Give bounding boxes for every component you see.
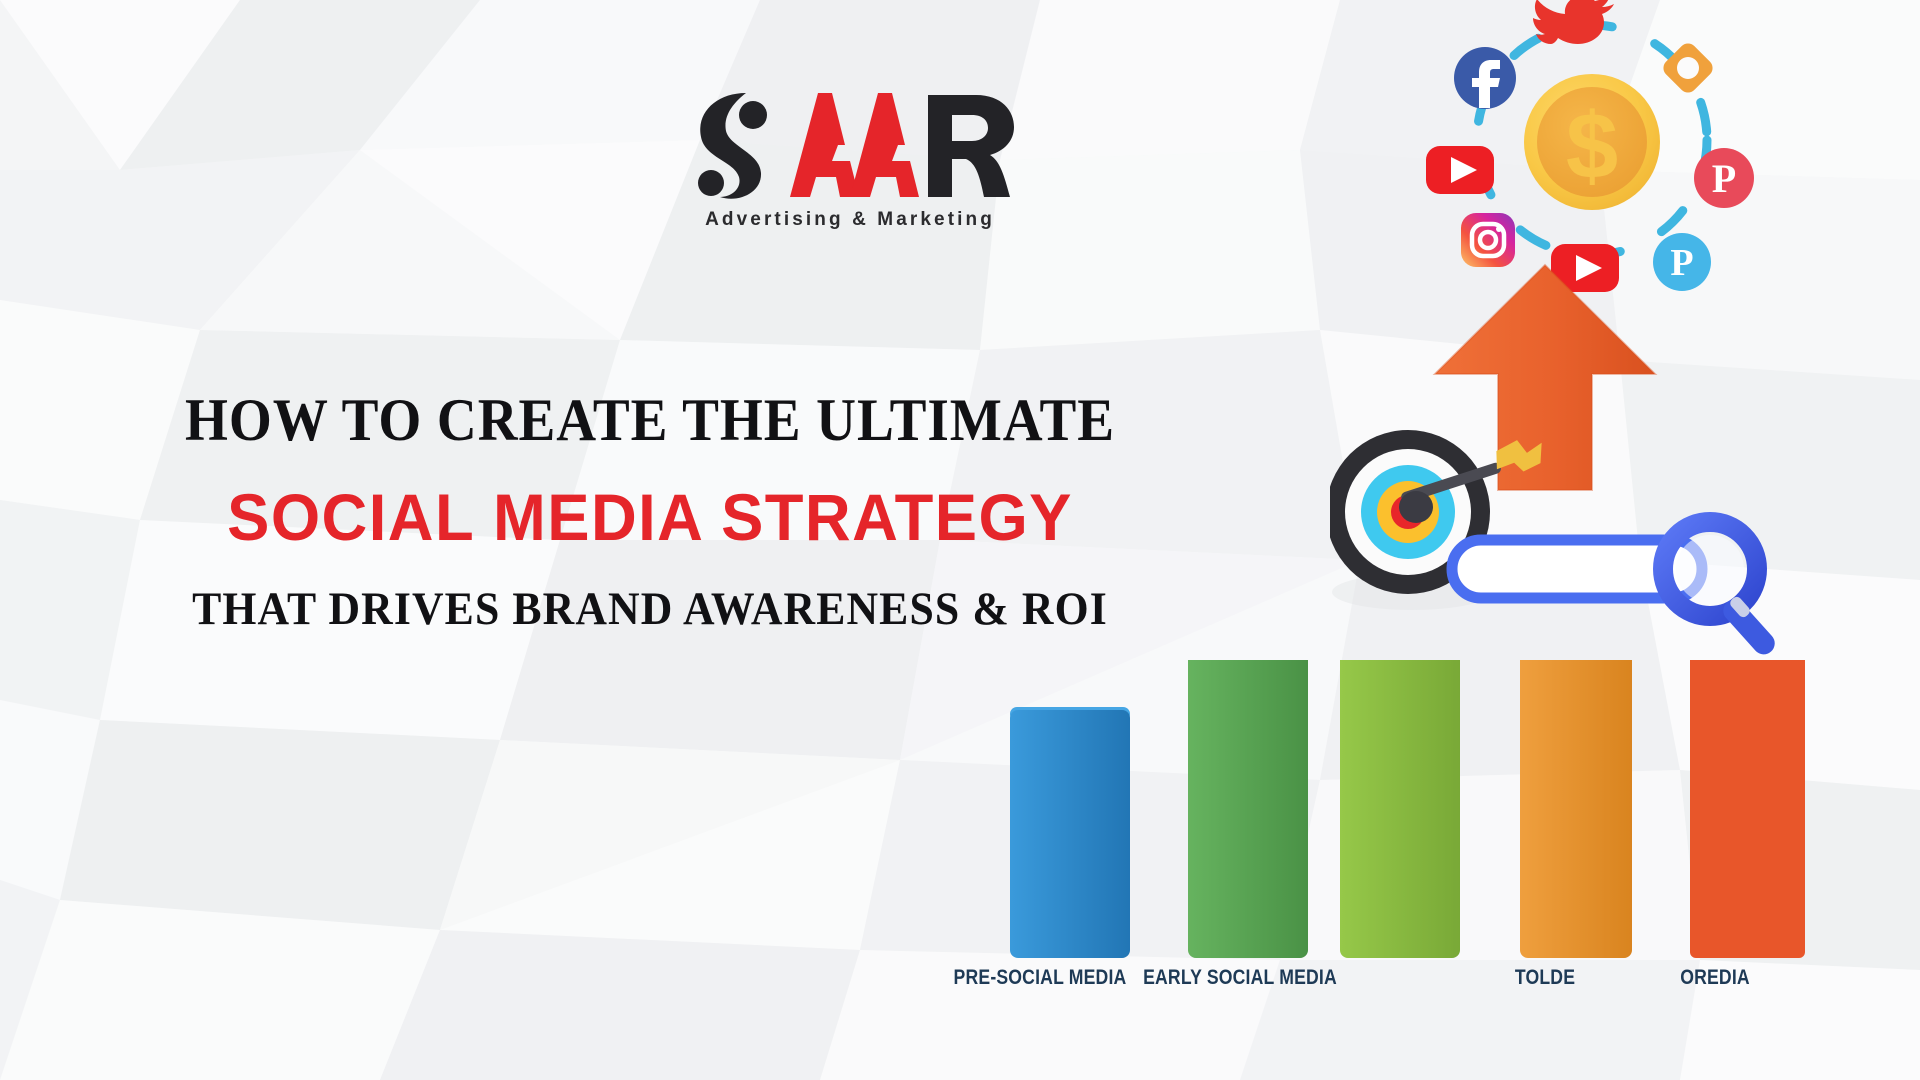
bar-oredia <box>1690 660 1805 958</box>
svg-text:$: $ <box>1566 93 1618 198</box>
twitter-icon <box>1533 0 1614 44</box>
bar-label-tolde: TOLDE <box>1453 966 1638 990</box>
facebook-icon <box>1454 47 1516 109</box>
headline-line-1: HOW TO CREATE THE ULTIMATE <box>52 390 1248 450</box>
svg-text:P: P <box>1670 242 1693 284</box>
bar-label-early-social-media: EARLY SOCIAL MEDIA <box>1080 966 1399 990</box>
svg-text:P: P <box>1712 156 1736 201</box>
bar-early-social-media <box>1188 660 1308 958</box>
bar-tolde-green <box>1340 660 1460 958</box>
pinterest-icon: P <box>1694 148 1754 208</box>
brand-logo: Advertising & Marketing <box>660 85 1040 231</box>
youtube-icon <box>1426 146 1494 194</box>
instagram-icon <box>1461 213 1515 267</box>
bar-tolde-orange <box>1520 660 1632 958</box>
pinterest-blue-icon: P <box>1653 233 1711 291</box>
headline-line-2: SOCIAL MEDIA STRATEGY <box>26 484 1274 550</box>
headline-line-3: THAT DRIVES BRAND AWARENESS & ROI <box>46 586 1255 633</box>
social-ring: $ P P <box>1426 0 1754 292</box>
dollar-coin-icon: $ <box>1524 74 1660 210</box>
headline-block: HOW TO CREATE THE ULTIMATE SOCIAL MEDIA … <box>0 390 1300 633</box>
bar-label-oredia: OREDIA <box>1618 966 1811 990</box>
saar-logo-mark <box>680 85 1020 205</box>
logo-tagline: Advertising & Marketing <box>660 209 1040 231</box>
bar-pre-social-media <box>1010 707 1130 958</box>
magnifier-icon <box>1452 522 1779 659</box>
